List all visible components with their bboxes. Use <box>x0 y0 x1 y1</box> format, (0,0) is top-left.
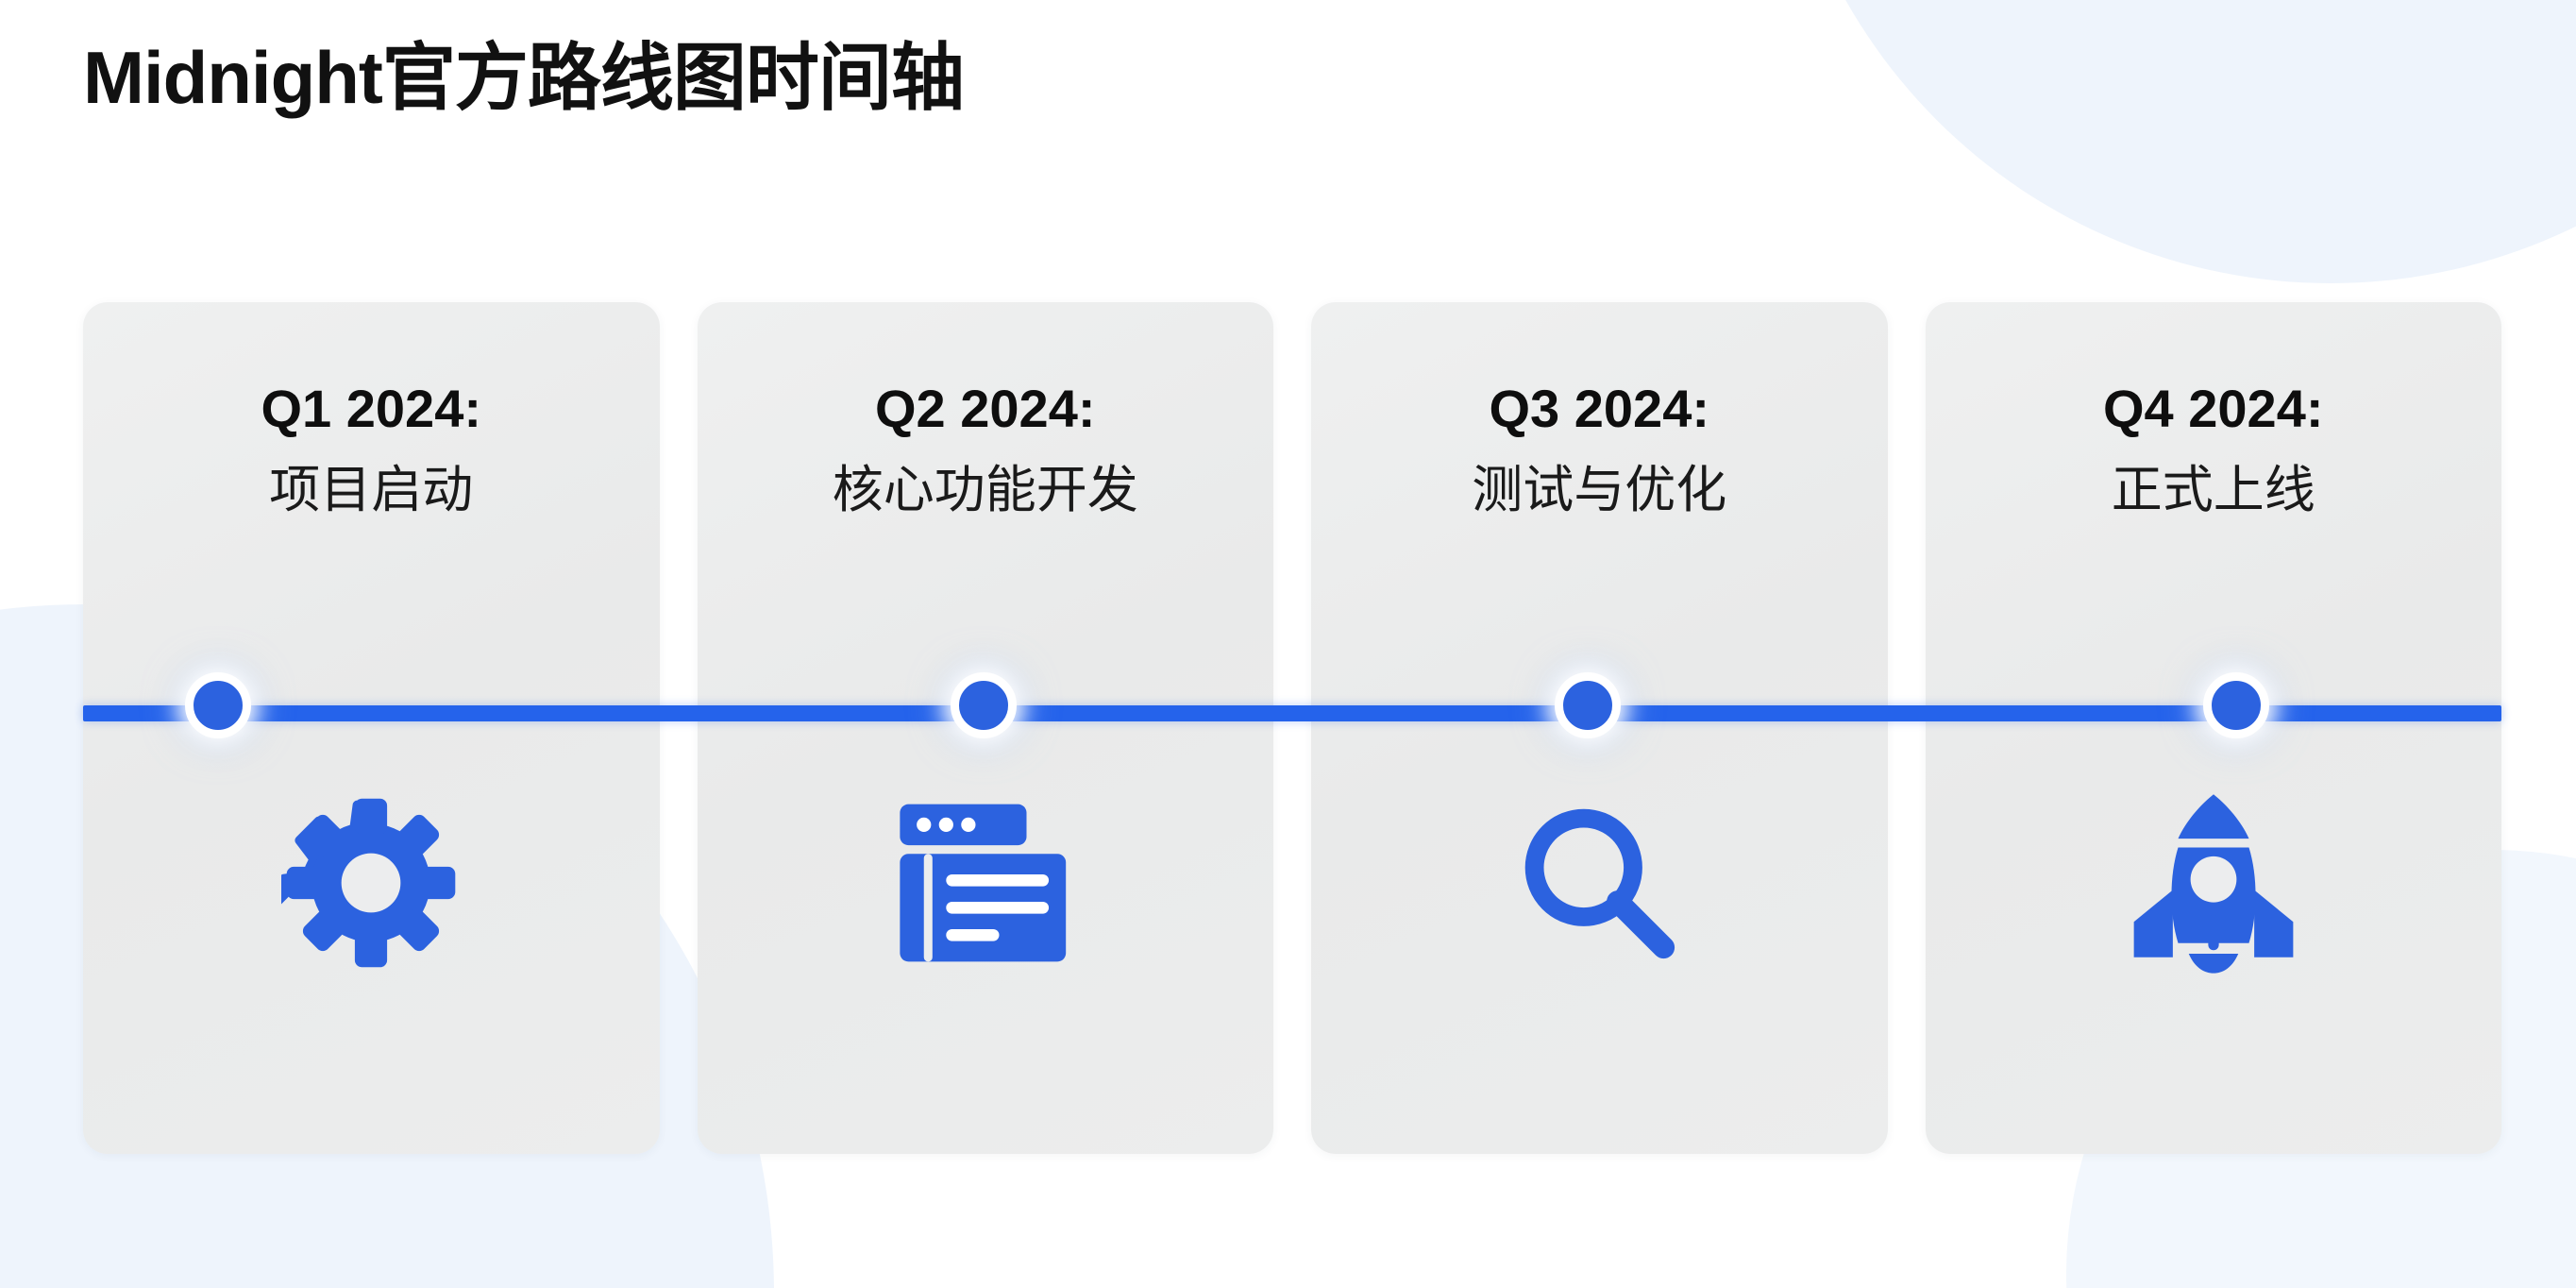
milestone-description-label: 正式上线 <box>1941 459 2487 523</box>
milestone-text-q2: Q2 2024: 核心功能开发 <box>698 376 1274 523</box>
milestone-description-label: 核心功能开发 <box>713 459 1259 523</box>
browser-window-icon <box>896 793 1075 973</box>
milestone-quarter-label: Q2 2024: <box>713 376 1259 442</box>
timeline-axis-line <box>83 705 2501 721</box>
milestone-quarter-label: Q4 2024: <box>1941 376 2487 442</box>
rocket-icon <box>2124 793 2303 973</box>
milestone-card-q1[interactable]: Q1 2024: 项目启动 <box>83 302 660 1154</box>
timeline-dot-q1[interactable] <box>185 672 251 738</box>
milestone-text-q1: Q1 2024: 项目启动 <box>83 376 660 523</box>
milestone-quarter-label: Q1 2024: <box>98 376 645 442</box>
timeline-dot-q4[interactable] <box>2203 672 2269 738</box>
page-title: Midnight官方路线图时间轴 <box>83 34 964 123</box>
decorative-circle-top-right <box>1774 0 2576 283</box>
magnifier-icon <box>1509 793 1689 973</box>
milestone-text-q3: Q3 2024: 测试与优化 <box>1311 376 1888 523</box>
milestone-quarter-label: Q3 2024: <box>1326 376 1873 442</box>
milestone-text-q4: Q4 2024: 正式上线 <box>1926 376 2502 523</box>
gear-icon <box>281 793 461 973</box>
milestone-description-label: 项目启动 <box>98 459 645 523</box>
timeline-dot-q2[interactable] <box>951 672 1017 738</box>
timeline-dot-q3[interactable] <box>1555 672 1621 738</box>
milestone-description-label: 测试与优化 <box>1326 459 1873 523</box>
timeline-infographic: Midnight官方路线图时间轴 Q1 2024: 项目启动 <box>0 0 2576 1288</box>
milestone-card-row: Q1 2024: 项目启动 <box>83 302 2501 1154</box>
